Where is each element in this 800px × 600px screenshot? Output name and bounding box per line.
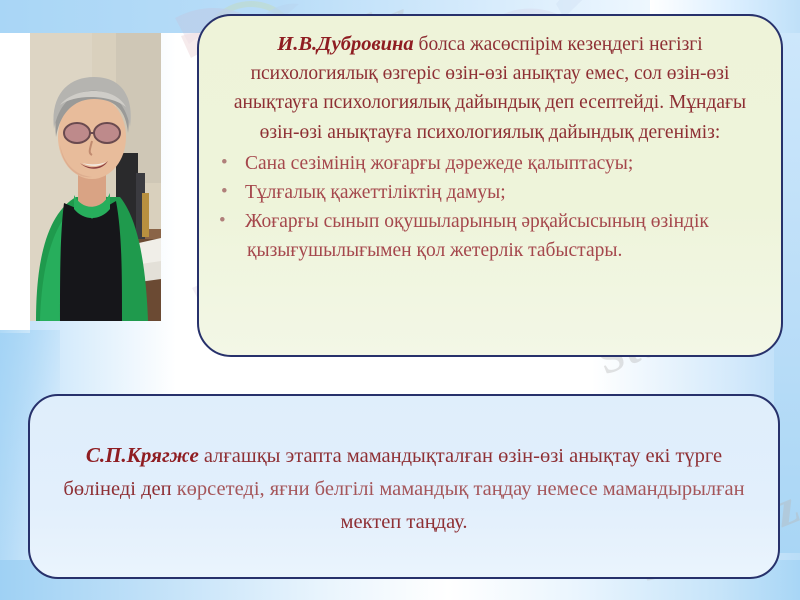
top-content-box: И.В.Дубровина болса жасөспірім кезеңдегі… <box>197 14 783 357</box>
slide-canvas: Stud.kz Stud.kz Stud.kz Stud.kz Stud.kz … <box>0 0 800 600</box>
list-item: Жоғарғы сынып оқушыларының әрқайсысының … <box>211 207 763 265</box>
portrait-photo <box>30 33 161 321</box>
top-box-bullet-list: Сана сезімінің жоғарғы дәрежеде қалыптас… <box>199 149 781 266</box>
top-box-author: И.В.Дубровина <box>277 33 413 55</box>
background-left-white-strip <box>0 33 30 333</box>
list-item: Сана сезімінің жоғарғы дәрежеде қалыптас… <box>211 149 763 178</box>
bottom-box-author: С.П.Крягже <box>86 443 199 467</box>
bottom-content-box: С.П.Крягже алғашқы этапта мамандықталған… <box>28 394 780 579</box>
bottom-box-body-part2: мектеп таңдау. <box>340 511 467 533</box>
bottom-box-paragraph: С.П.Крягже алғашқы этапта мамандықталған… <box>30 396 778 539</box>
top-box-paragraph: И.В.Дубровина болса жасөспірім кезеңдегі… <box>199 16 781 147</box>
list-item: Тұлғалық қажеттіліктің дамуы; <box>211 178 763 207</box>
bottom-box-body-highlight: көрсетеді, яғни белгілі мамандық таңдау … <box>177 478 745 500</box>
